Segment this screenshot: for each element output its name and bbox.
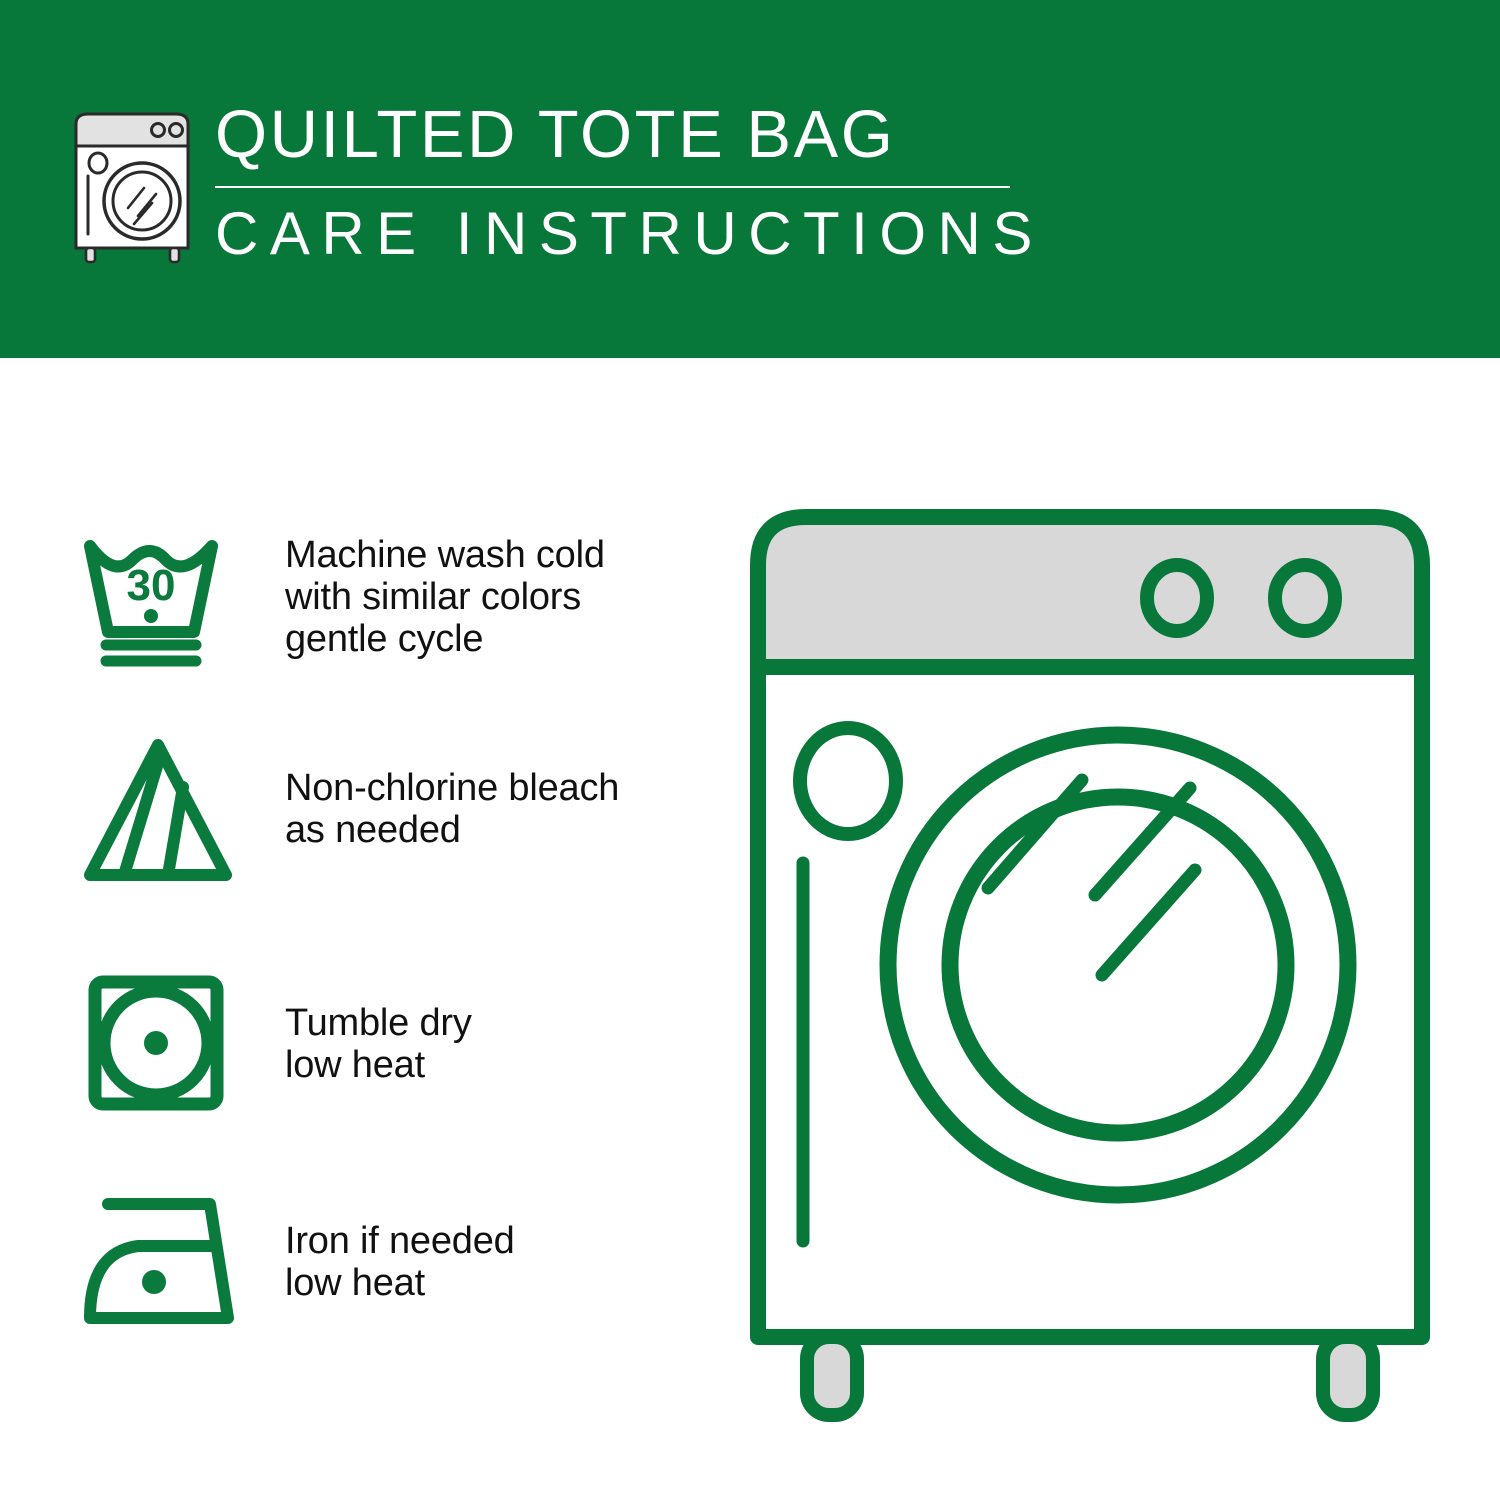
- care-row-iron: Iron if needed low heat: [78, 1190, 515, 1340]
- leg-right: [1323, 1337, 1373, 1415]
- care-row-label: Non-chlorine bleach as needed: [285, 735, 619, 851]
- iron-icon: [78, 1190, 243, 1340]
- svg-text:30: 30: [127, 561, 176, 610]
- tumble-dry-icon: [78, 970, 243, 1120]
- care-row-machine-wash: 30 Machine wash cold with similar colors…: [78, 520, 605, 670]
- washing-machine-illustration: [740, 485, 1440, 1425]
- knob-left: [1147, 565, 1207, 631]
- bleach-triangle-icon: [78, 735, 243, 885]
- care-row-label: Machine wash cold with similar colors ge…: [285, 520, 605, 660]
- leg-left: [807, 1337, 857, 1415]
- care-row-label: Tumble dry low heat: [285, 970, 472, 1086]
- care-instructions-page: QUILTED TOTE BAG CARE INSTRUCTIONS 30: [0, 0, 1500, 1500]
- small-dial: [800, 728, 896, 834]
- care-row-bleach: Non-chlorine bleach as needed: [78, 735, 619, 885]
- care-row-label: Iron if needed low heat: [285, 1190, 515, 1304]
- care-row-tumble-dry: Tumble dry low heat: [78, 970, 472, 1120]
- knob-right: [1275, 565, 1335, 631]
- machine-wash-tub-icon: 30: [78, 520, 243, 670]
- care-instruction-list: 30 Machine wash cold with similar colors…: [0, 0, 700, 1500]
